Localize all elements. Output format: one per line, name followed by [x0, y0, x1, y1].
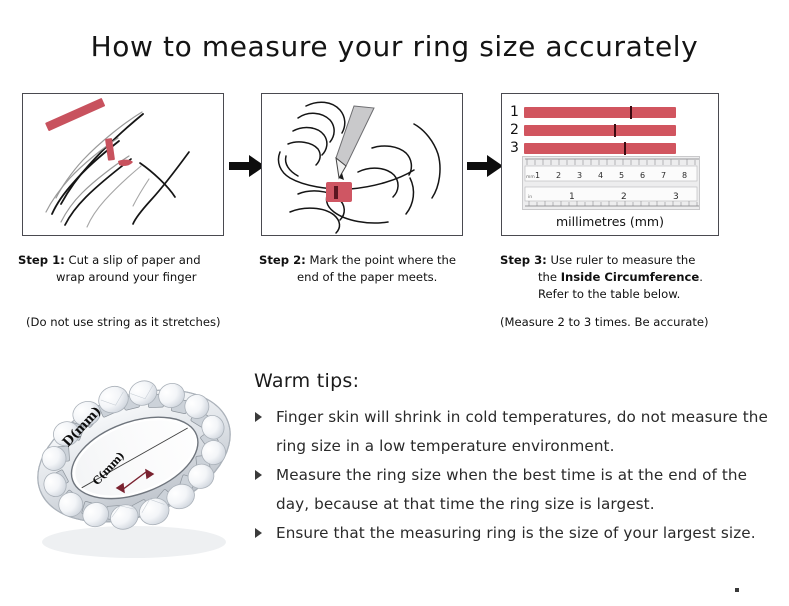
measurement-row-3: 3	[510, 140, 676, 156]
ruler-unit-caption: millimetres (mm)	[502, 214, 718, 229]
measurement-row-1: 1	[510, 104, 676, 120]
ring-size-guide-page: How to measure your ring size accurately	[0, 0, 789, 606]
measurement-mark	[624, 142, 626, 155]
step-3-line3: Refer to the table below.	[500, 286, 728, 303]
step-2-caption: Step 2: Mark the point where the end of …	[259, 252, 474, 286]
step-3-emphasis: Inside Circumference	[561, 270, 700, 284]
arrow-step2-to-step3-icon	[467, 155, 503, 177]
svg-text:2: 2	[556, 171, 561, 180]
step-2-label: Step 2:	[259, 253, 306, 267]
tip-text: Ensure that the measuring ring is the si…	[276, 524, 756, 542]
svg-text:5: 5	[619, 171, 624, 180]
step-2-line1: Mark the point where the	[309, 253, 456, 267]
step-3-note: (Measure 2 to 3 times. Be accurate)	[500, 315, 709, 329]
eternity-ring-image	[18, 352, 250, 576]
measurement-mark	[630, 106, 632, 119]
step-3-label: Step 3:	[500, 253, 547, 267]
svg-text:4: 4	[598, 171, 603, 180]
step-2-line2: end of the paper meets.	[259, 269, 474, 286]
list-item: Measure the ring size when the best time…	[254, 461, 779, 519]
triangle-bullet-icon	[255, 528, 262, 538]
tip-text: Finger skin will shrink in cold temperat…	[276, 408, 768, 455]
svg-text:1: 1	[569, 192, 575, 202]
measurement-row-number: 2	[510, 122, 524, 138]
step-1-illustration-panel	[22, 93, 224, 236]
measurement-row-2: 2	[510, 122, 676, 138]
corner-artifact	[735, 588, 739, 592]
paper-strip-bar	[524, 143, 676, 154]
svg-text:1: 1	[535, 171, 540, 180]
step-1-caption: Step 1: Cut a slip of paper and wrap aro…	[18, 252, 233, 286]
svg-text:2: 2	[621, 192, 627, 202]
step-2-illustration-panel	[261, 93, 463, 236]
step-1-line1: Cut a slip of paper and	[68, 253, 200, 267]
svg-text:3: 3	[577, 171, 582, 180]
svg-text:8: 8	[682, 171, 687, 180]
ruler-graphic: 12 34 56 78 mm 123 in	[522, 156, 700, 210]
measurement-row-number: 3	[510, 140, 524, 156]
step-1-note: (Do not use string as it stretches)	[26, 315, 221, 329]
step-3-line2-tail: .	[699, 270, 703, 284]
svg-text:7: 7	[661, 171, 666, 180]
svg-text:in: in	[528, 194, 532, 200]
measurement-row-number: 1	[510, 104, 524, 120]
paper-strip-bar	[524, 125, 676, 136]
step-3-line1: Use ruler to measure the	[550, 253, 695, 267]
hand-with-paper-strip-icon	[23, 94, 223, 235]
list-item: Ensure that the measuring ring is the si…	[254, 519, 779, 548]
paper-strip-bar	[524, 107, 676, 118]
list-item: Finger skin will shrink in cold temperat…	[254, 403, 779, 461]
ring-diagram	[18, 352, 250, 576]
triangle-bullet-icon	[255, 412, 262, 422]
svg-text:3: 3	[673, 192, 679, 202]
svg-text:6: 6	[640, 171, 645, 180]
triangle-bullet-icon	[255, 470, 262, 480]
step-3-illustration-panel: 1 2 3	[501, 93, 719, 236]
page-title: How to measure your ring size accurately	[0, 30, 789, 63]
step-1-line2: wrap around your finger	[18, 269, 233, 286]
step-3-caption: Step 3: Use ruler to measure the the Ins…	[500, 252, 728, 303]
step-3-line2-prefix: the	[538, 270, 561, 284]
warm-tips-heading: Warm tips:	[254, 370, 359, 392]
svg-text:mm: mm	[526, 175, 535, 180]
tip-text: Measure the ring size when the best time…	[276, 466, 747, 513]
arrow-step1-to-step2-icon	[229, 155, 265, 177]
step-1-label: Step 1:	[18, 253, 65, 267]
hand-marking-paper-with-pen-icon	[262, 94, 462, 235]
warm-tips-list: Finger skin will shrink in cold temperat…	[254, 403, 779, 548]
measurement-mark	[614, 124, 616, 137]
